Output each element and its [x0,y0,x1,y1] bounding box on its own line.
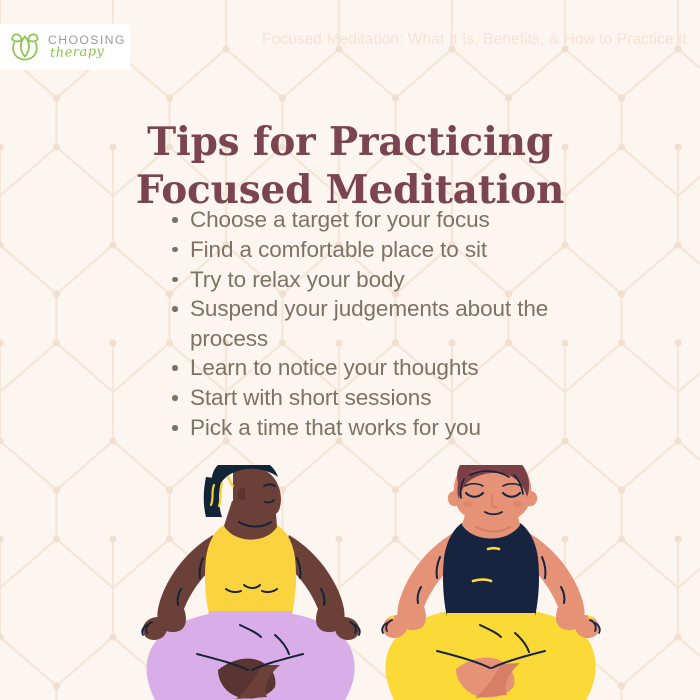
list-item: Suspend your judgements about the proces… [168,294,568,353]
brand-logo[interactable]: CHOOSING therapy [0,24,130,70]
left-figure-waistband [208,611,293,621]
list-item: Learn to notice your thoughts [168,353,568,382]
right-figure-meditating-woman [382,465,600,700]
logo-secondary-text: therapy [50,45,126,61]
logo-wordmark: CHOOSING therapy [48,34,126,60]
list-item: Start with short sessions [168,383,568,412]
tips-list: Choose a target for your focus Find a co… [168,205,568,443]
leaf-tulip-logo-icon [9,32,41,62]
list-item: Choose a target for your focus [168,205,568,234]
list-item: Pick a time that works for you [168,413,568,442]
infographic-canvas: CHOOSING therapy Focused Meditation: Wha… [0,0,700,700]
left-figure-meditating-woman [142,465,360,700]
logo-inner: CHOOSING therapy [0,32,126,62]
two-women-meditating-illustration [0,465,700,700]
page-title: Tips for Practicing Focused Meditation [0,118,700,214]
right-figure-waistband [446,613,536,623]
article-title: Focused Meditation: What It Is, Benefits… [262,31,687,49]
list-item: Try to relax your body [168,265,568,294]
list-item: Find a comfortable place to sit [168,235,568,264]
page-title-line-1: Tips for Practicing [0,118,700,166]
